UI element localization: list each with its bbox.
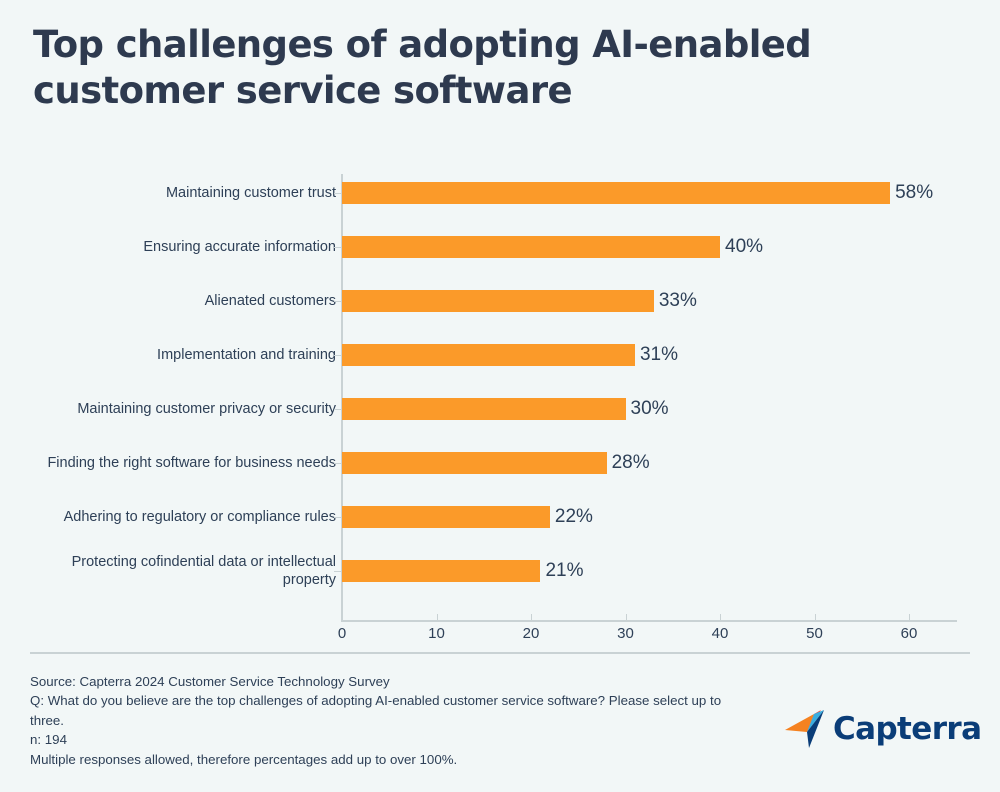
category-label: Alienated customers <box>16 292 336 310</box>
x-axis-tick <box>626 614 627 621</box>
x-axis-tick <box>815 614 816 621</box>
bar <box>342 506 550 528</box>
category-label: Ensuring accurate information <box>16 238 336 256</box>
infographic-page: Top challenges of adopting AI-enabled cu… <box>0 0 1000 792</box>
bar <box>342 344 635 366</box>
category-label: Adhering to regulatory or compliance rul… <box>16 508 336 526</box>
bar-row: Implementation and training31% <box>0 344 1000 398</box>
bar <box>342 452 607 474</box>
category-tick <box>334 409 341 410</box>
bar <box>342 182 890 204</box>
x-axis-tick <box>342 614 343 621</box>
bar-row: Ensuring accurate information40% <box>0 236 1000 290</box>
bar-value-label: 58% <box>895 182 933 204</box>
category-tick <box>334 517 341 518</box>
category-label: Implementation and training <box>16 346 336 364</box>
bar-row: Alienated customers33% <box>0 290 1000 344</box>
bar-value-label: 31% <box>640 344 678 366</box>
category-tick <box>334 301 341 302</box>
x-axis-line <box>341 620 957 622</box>
capterra-wordmark: Capterra <box>833 714 981 745</box>
x-axis-tick-label: 10 <box>417 625 457 642</box>
bar-value-label: 33% <box>659 290 697 312</box>
x-axis-tick-label: 50 <box>795 625 835 642</box>
x-axis-tick <box>437 614 438 621</box>
bar <box>342 398 626 420</box>
bar-value-label: 40% <box>725 236 763 258</box>
category-tick <box>334 355 341 356</box>
footer-divider <box>30 652 970 654</box>
x-axis-tick-label: 20 <box>511 625 551 642</box>
category-tick <box>334 193 341 194</box>
bar-row: Protecting cofindential data or intellec… <box>0 560 1000 614</box>
category-tick <box>334 571 341 572</box>
x-axis-tick <box>531 614 532 621</box>
bar-value-label: 28% <box>612 452 650 474</box>
category-label: Protecting cofindential data or intellec… <box>16 553 336 589</box>
x-axis-tick-label: 40 <box>700 625 740 642</box>
capterra-logo: Capterra <box>783 706 943 752</box>
bar-chart: Maintaining customer trust58%Ensuring ac… <box>0 170 1000 635</box>
footnote-note: Multiple responses allowed, therefore pe… <box>30 750 770 769</box>
bar-row: Maintaining customer privacy or security… <box>0 398 1000 452</box>
bar <box>342 290 654 312</box>
bar-value-label: 30% <box>631 398 669 420</box>
x-axis-tick <box>720 614 721 621</box>
bar-row: Finding the right software for business … <box>0 452 1000 506</box>
paper-plane-icon <box>783 708 829 750</box>
category-tick <box>334 247 341 248</box>
bar-value-label: 22% <box>555 506 593 528</box>
x-axis-tick <box>909 614 910 621</box>
footnote-sample-size: n: 194 <box>30 730 770 749</box>
x-axis-tick-label: 0 <box>322 625 362 642</box>
page-title: Top challenges of adopting AI-enabled cu… <box>33 22 833 114</box>
bar <box>342 560 540 582</box>
x-axis-tick-label: 60 <box>889 625 929 642</box>
footnotes: Source: Capterra 2024 Customer Service T… <box>30 672 770 769</box>
category-tick <box>334 463 341 464</box>
x-axis-tick-label: 30 <box>606 625 646 642</box>
footnote-question: Q: What do you believe are the top chall… <box>30 691 770 730</box>
footnote-source: Source: Capterra 2024 Customer Service T… <box>30 672 770 691</box>
category-label: Maintaining customer trust <box>16 184 336 202</box>
bar-value-label: 21% <box>545 560 583 582</box>
bar-row: Adhering to regulatory or compliance rul… <box>0 506 1000 560</box>
category-label: Finding the right software for business … <box>16 454 336 472</box>
bar-row: Maintaining customer trust58% <box>0 182 1000 236</box>
category-label: Maintaining customer privacy or security <box>16 400 336 418</box>
bar <box>342 236 720 258</box>
